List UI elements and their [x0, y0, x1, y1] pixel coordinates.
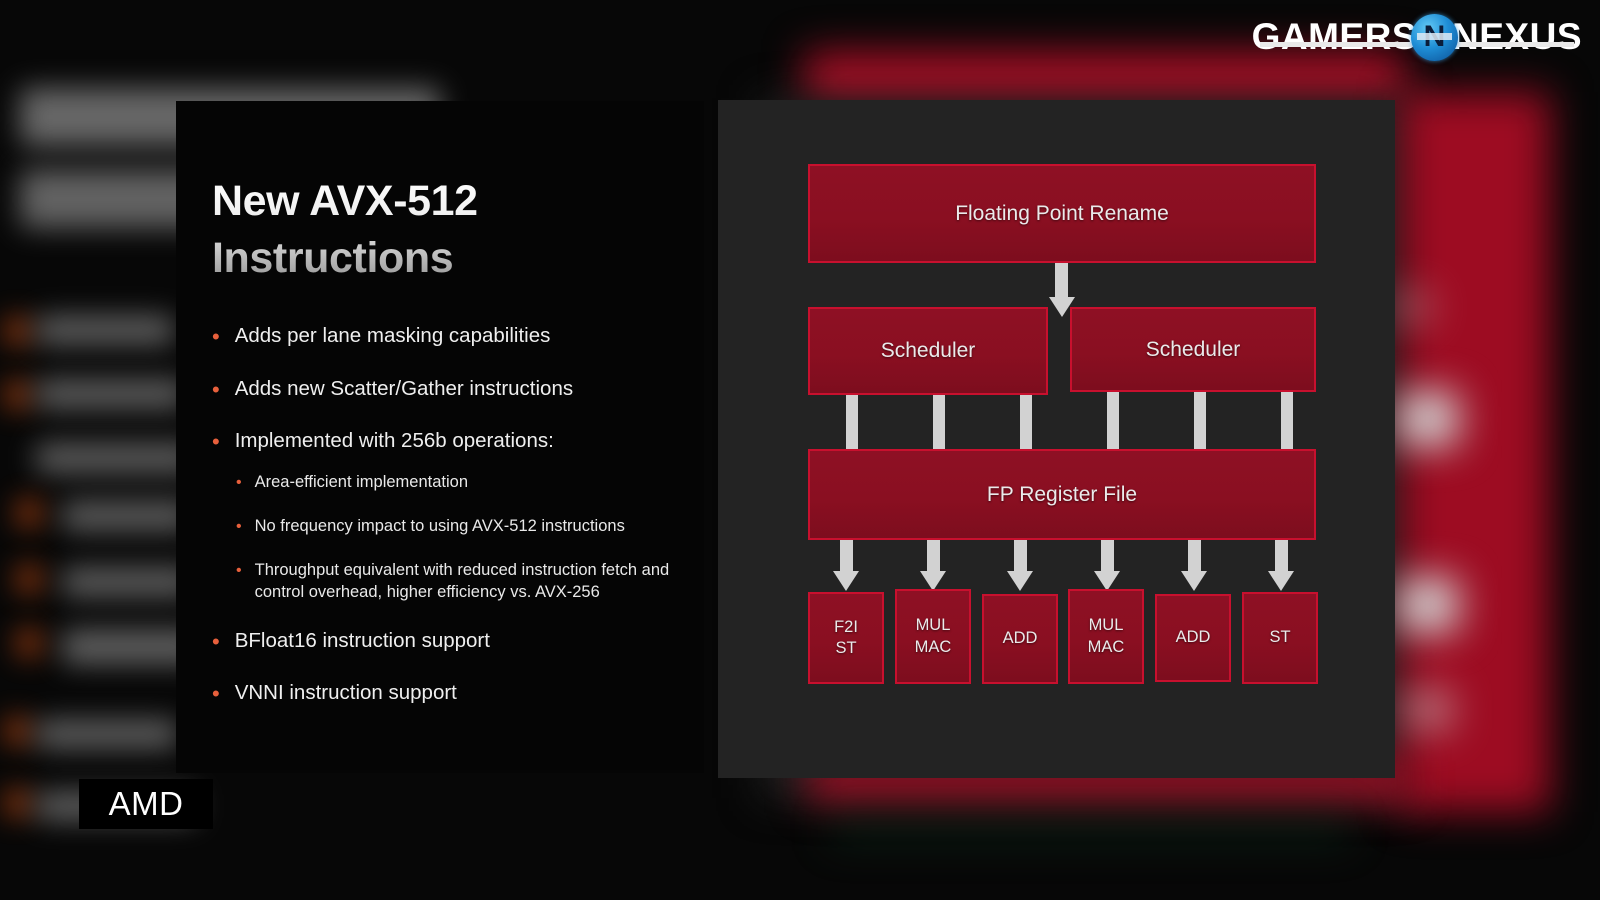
connector-shaft [1188, 540, 1201, 573]
slide-photo: New AVX-512 Instructions • Adds per lane… [0, 0, 1600, 900]
bg-blurred-bullet-dot [6, 790, 28, 816]
logo-word-nexus: NEXUS [1452, 16, 1582, 58]
gamers-nexus-watermark: GAMERS N NEXUS [1252, 8, 1582, 66]
eu-line-1: ADD [1003, 628, 1038, 649]
eu-line-1: MUL [915, 615, 952, 636]
eu-line-1: ADD [1176, 627, 1211, 648]
amd-logo-text: AMD [109, 785, 184, 823]
diagram-box-execution-unit: MULMAC [1068, 589, 1144, 684]
slide-text-panel: New AVX-512 Instructions • Adds per lane… [176, 101, 704, 773]
diagram-box-floating-point-rename: Floating Point Rename [808, 164, 1316, 263]
bullet-dot-icon: • [236, 519, 242, 535]
list-item: • VNNI instruction support [212, 680, 682, 706]
bullet-text: VNNI instruction support [235, 680, 457, 706]
sub-list-item: • Throughput equivalent with reduced ins… [236, 560, 682, 604]
diagram-box-execution-unit: F2IST [808, 592, 884, 684]
sub-bullet-text: No frequency impact to using AVX-512 ins… [255, 516, 625, 538]
bg-blurred-green-text [830, 818, 1350, 840]
bg-blurred-text-row [36, 380, 186, 408]
bullet-dot-icon: • [236, 563, 242, 579]
connector-arrowhead-icon [920, 571, 946, 591]
diagram-box-scheduler-left: Scheduler [808, 307, 1048, 395]
bullet-text: Adds new Scatter/Gather instructions [235, 376, 573, 402]
eu-line-2: ST [834, 638, 858, 659]
bullet-dot-icon: • [212, 631, 220, 653]
bg-blurred-bullet-dot [6, 318, 28, 344]
sub-list-item: • Area-efficient implementation [236, 472, 682, 494]
bg-blurred-arrow [1398, 392, 1458, 446]
connector-arrowhead-icon [1094, 571, 1120, 591]
eu-line-1: MUL [1088, 615, 1125, 636]
connector-shaft [1101, 540, 1114, 573]
bg-blurred-text-row [62, 568, 194, 596]
diagram-box-fp-register-file: FP Register File [808, 449, 1316, 540]
connector-bar [1020, 395, 1032, 451]
bullet-text: Implemented with 256b operations: [235, 428, 554, 454]
bg-blurred-text-row [36, 316, 174, 344]
connector-bar [1194, 392, 1206, 451]
bullet-dot-icon: • [236, 475, 242, 491]
bg-blurred-bullet-dot [18, 500, 40, 526]
bg-blurred-arrow [1396, 292, 1430, 322]
bullet-dot-icon: • [212, 326, 220, 348]
bg-blurred-text-row [36, 720, 178, 748]
sub-bullet-list: • Area-efficient implementation • No fre… [236, 472, 682, 604]
sub-list-item: • No frequency impact to using AVX-512 i… [236, 516, 682, 538]
bg-blurred-bullet-dot [6, 382, 28, 408]
sub-bullet-text: Area-efficient implementation [255, 472, 468, 494]
eu-line-2: MAC [1088, 637, 1125, 658]
diagram-box-execution-unit: ADD [982, 594, 1058, 684]
diagram-box-execution-unit: ADD [1155, 594, 1231, 682]
bg-blurred-bullet-dot [6, 718, 28, 744]
page-title: New AVX-512 Instructions [212, 173, 672, 287]
bg-blurred-text-row [36, 444, 196, 472]
eu-line-2: MAC [915, 637, 952, 658]
list-item: • Implemented with 256b operations: [212, 428, 682, 454]
list-item: • BFloat16 instruction support [212, 628, 682, 654]
diagram-box-execution-unit: ST [1242, 592, 1318, 684]
connector-arrowhead-icon [1007, 571, 1033, 591]
connector-shaft [1275, 540, 1288, 573]
amd-logo: AMD [79, 779, 213, 829]
gamers-nexus-emblem-icon: N [1411, 14, 1458, 61]
eu-line-1: ST [1269, 627, 1290, 648]
bg-blurred-text-row [62, 502, 192, 530]
logo-word-gamers: GAMERS [1252, 16, 1417, 58]
bg-blurred-arrow [1398, 578, 1458, 632]
bullet-dot-icon: • [212, 683, 220, 705]
bg-blurred-bullet-dot [18, 630, 40, 656]
connector-shaft [927, 540, 940, 573]
connector-arrowhead-icon [833, 571, 859, 591]
eu-line-1: F2I [834, 617, 858, 638]
sub-bullet-text: Throughput equivalent with reduced instr… [255, 560, 682, 604]
connector-arrowhead-icon [1268, 571, 1294, 591]
list-item: • Adds per lane masking capabilities [212, 323, 682, 349]
connector-shaft [1014, 540, 1027, 573]
bullet-dot-icon: • [212, 431, 220, 453]
bg-blurred-bullet-dot [18, 566, 40, 592]
connector-bar [933, 395, 945, 451]
connector-bar [1281, 392, 1293, 451]
connector-arrowhead-icon [1181, 571, 1207, 591]
emblem-shine [1417, 33, 1452, 40]
connector-shaft [840, 540, 853, 573]
connector-shaft [1055, 263, 1068, 299]
diagram-box-scheduler-right: Scheduler [1070, 307, 1316, 392]
bullet-text: Adds per lane masking capabilities [235, 323, 551, 349]
diagram-box-execution-unit: MULMAC [895, 589, 971, 684]
bullet-text: BFloat16 instruction support [235, 628, 490, 654]
connector-bar [846, 395, 858, 451]
connector-bar [1107, 392, 1119, 451]
bullet-list: • Adds per lane masking capabilities • A… [212, 323, 682, 733]
fp-pipeline-diagram: Floating Point Rename Scheduler Schedule… [718, 100, 1395, 778]
bg-blurred-arrow [1404, 690, 1452, 730]
list-item: • Adds new Scatter/Gather instructions [212, 376, 682, 402]
bullet-dot-icon: • [212, 379, 220, 401]
